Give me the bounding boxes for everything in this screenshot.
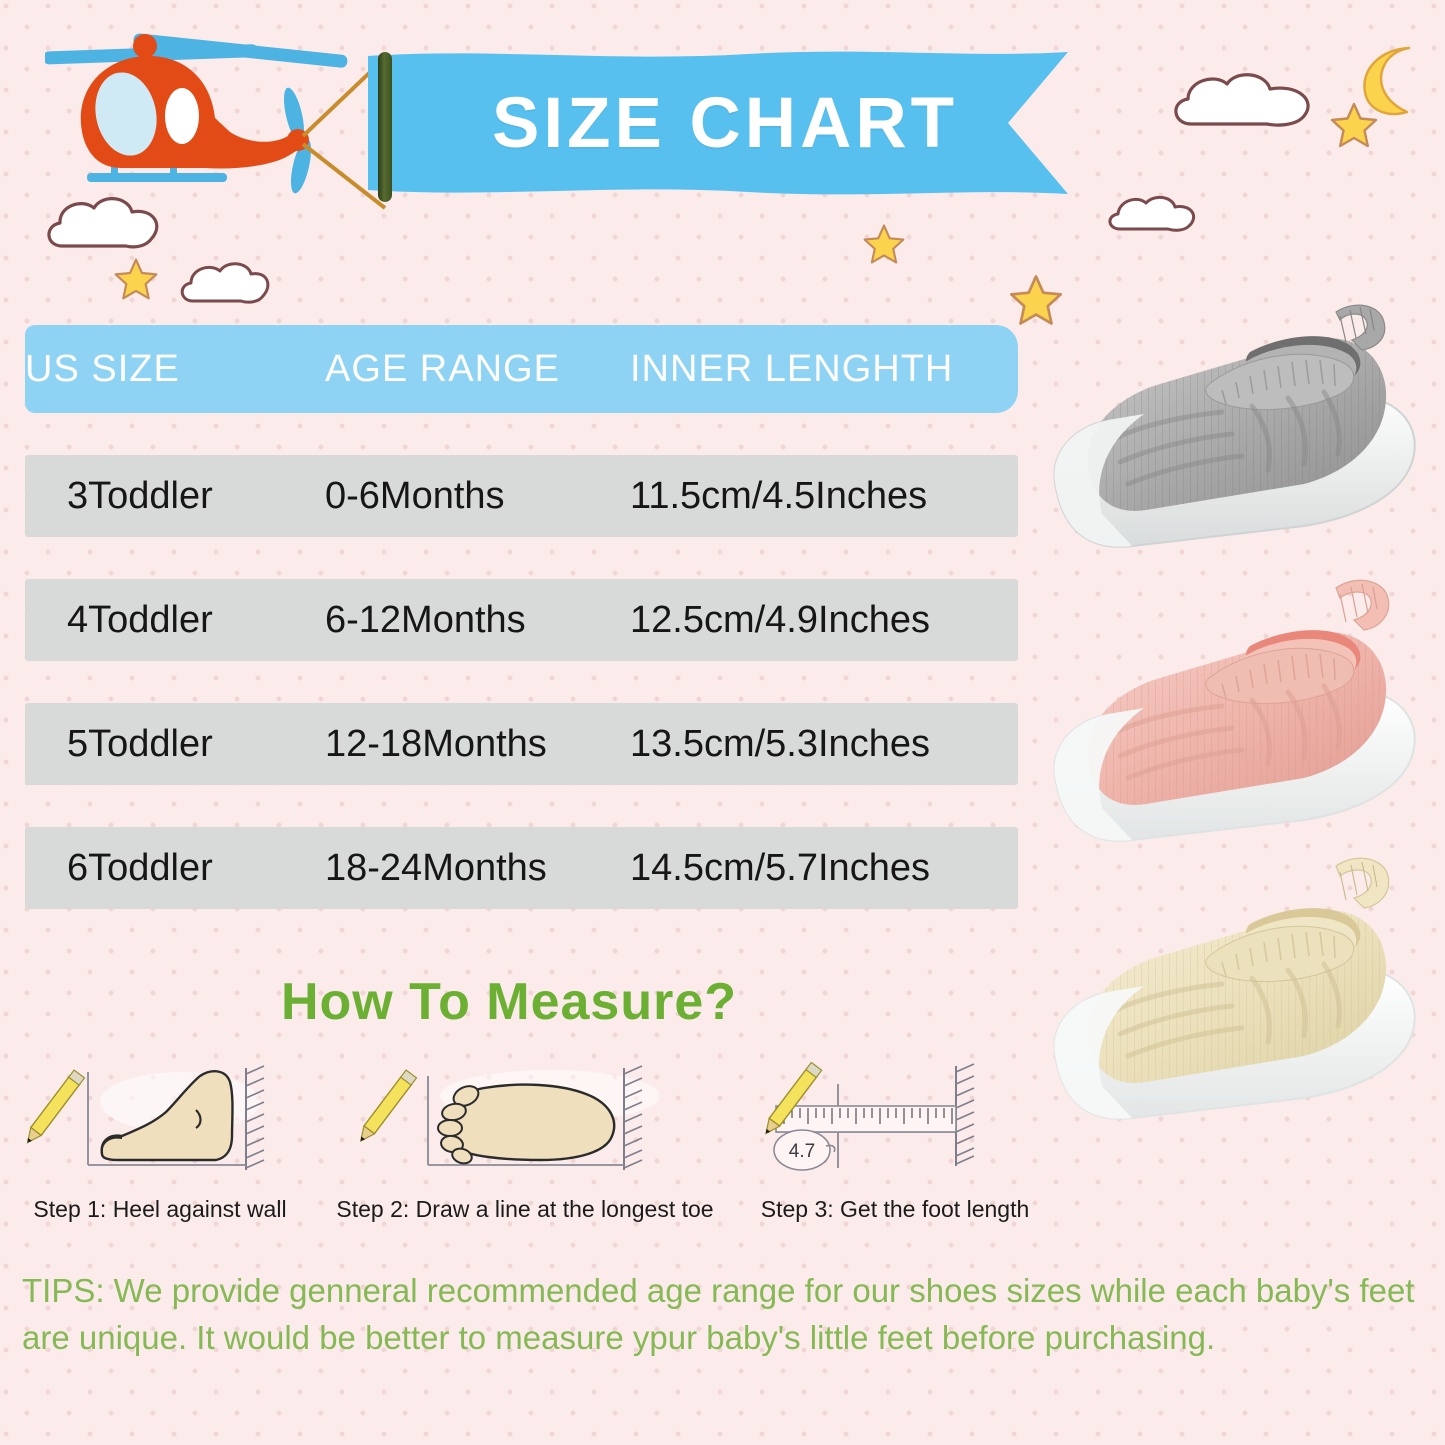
cloud-icon [175,258,275,306]
table-row: 5Toddler 12-18Months 13.5cm/5.3Inches [25,703,1018,785]
cell-age-range: 6-12Months [325,599,630,642]
cloud-icon [1104,192,1204,234]
cell-inner-length: 14.5cm/5.7Inches [630,847,1018,890]
measure-step-3: 4.7 Step 3: Get the foot length [740,1062,1050,1223]
cell-age-range: 12-18Months [325,723,630,766]
step-2-label: Step 2: Draw a line at the longest toe [320,1196,730,1223]
foot-top-pencil-icon [320,1062,730,1192]
column-header-age-range: AGE RANGE [325,348,630,391]
cell-age-range: 0-6Months [325,475,630,518]
cloud-icon [1165,68,1325,130]
cell-us-size: 4Toddler [25,599,325,642]
cell-us-size: 5Toddler [25,723,325,766]
column-header-inner-length: INNER LENGHTH [630,348,1018,391]
star-icon [862,222,906,271]
cell-inner-length: 13.5cm/5.3Inches [630,723,1018,766]
table-row: 3Toddler 0-6Months 11.5cm/4.5Inches [25,455,1018,537]
page-title: SIZE CHART [368,48,1068,198]
table-row: 4Toddler 6-12Months 12.5cm/4.9Inches [25,579,1018,661]
step-1-label: Step 1: Heel against wall [10,1196,310,1223]
banner: SIZE CHART [368,48,1068,198]
tips-text: TIPS: We provide genneral recommended ag… [22,1268,1422,1362]
measure-step-2: Step 2: Draw a line at the longest toe [320,1062,730,1223]
ruler-pencil-icon: 4.7 [740,1062,1050,1192]
size-chart-table: US SIZE AGE RANGE INNER LENGHTH 3Toddler… [25,325,1018,909]
helicopter-icon [45,18,415,243]
cream-knit-baby-shoe [1036,846,1436,1141]
table-header-row: US SIZE AGE RANGE INNER LENGHTH [25,325,1018,413]
measure-step-1: Step 1: Heel against wall [10,1062,310,1223]
cell-us-size: 3Toddler [25,475,325,518]
star-icon [1329,100,1379,155]
gray-knit-baby-shoe [1036,278,1436,573]
measure-callout-value: 4.7 [789,1141,815,1162]
pink-knit-baby-shoe [1036,570,1436,865]
cell-inner-length: 11.5cm/4.5Inches [630,475,1018,518]
table-row: 6Toddler 18-24Months 14.5cm/5.7Inches [25,827,1018,909]
cell-us-size: 6Toddler [25,847,325,890]
cell-inner-length: 12.5cm/4.9Inches [630,599,1018,642]
how-to-measure-title: How To Measure? [0,972,1018,1032]
cell-age-range: 18-24Months [325,847,630,890]
column-header-us-size: US SIZE [25,348,325,391]
step-3-label: Step 3: Get the foot length [740,1196,1050,1223]
banner-pole [378,52,392,202]
star-icon [113,256,159,307]
foot-side-pencil-icon [10,1062,310,1192]
